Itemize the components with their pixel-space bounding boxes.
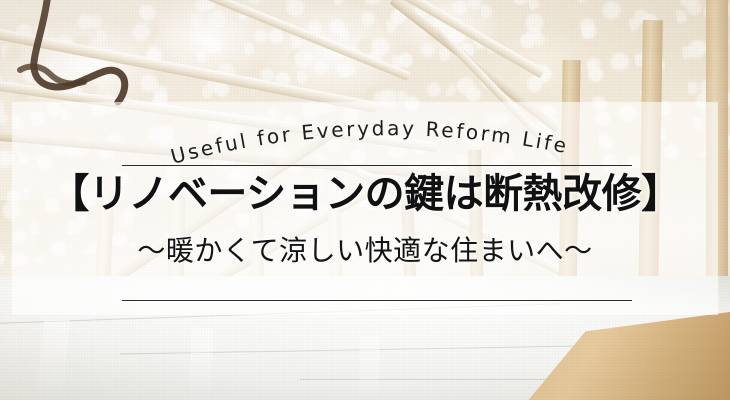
subheadline-text: 〜暖かくて涼しい快適な住まいへ〜	[12, 237, 718, 265]
eyebrow-textpath: Useful for Everyday Reform Life	[168, 116, 571, 168]
divider-top	[122, 165, 632, 166]
text-overlay-panel: Useful for Everyday Reform Life 【リノベーション…	[12, 102, 718, 315]
eyebrow-label: Useful for Everyday Reform Life	[168, 116, 571, 168]
eyebrow-arched-text: Useful for Everyday Reform Life	[12, 108, 718, 166]
headline-title: 【リノベーションの鍵は断熱改修】	[12, 174, 718, 214]
divider-bottom	[122, 300, 632, 301]
eyebrow-svg: Useful for Everyday Reform Life	[12, 108, 718, 166]
renovation-banner: Useful for Everyday Reform Life 【リノベーション…	[0, 0, 730, 400]
